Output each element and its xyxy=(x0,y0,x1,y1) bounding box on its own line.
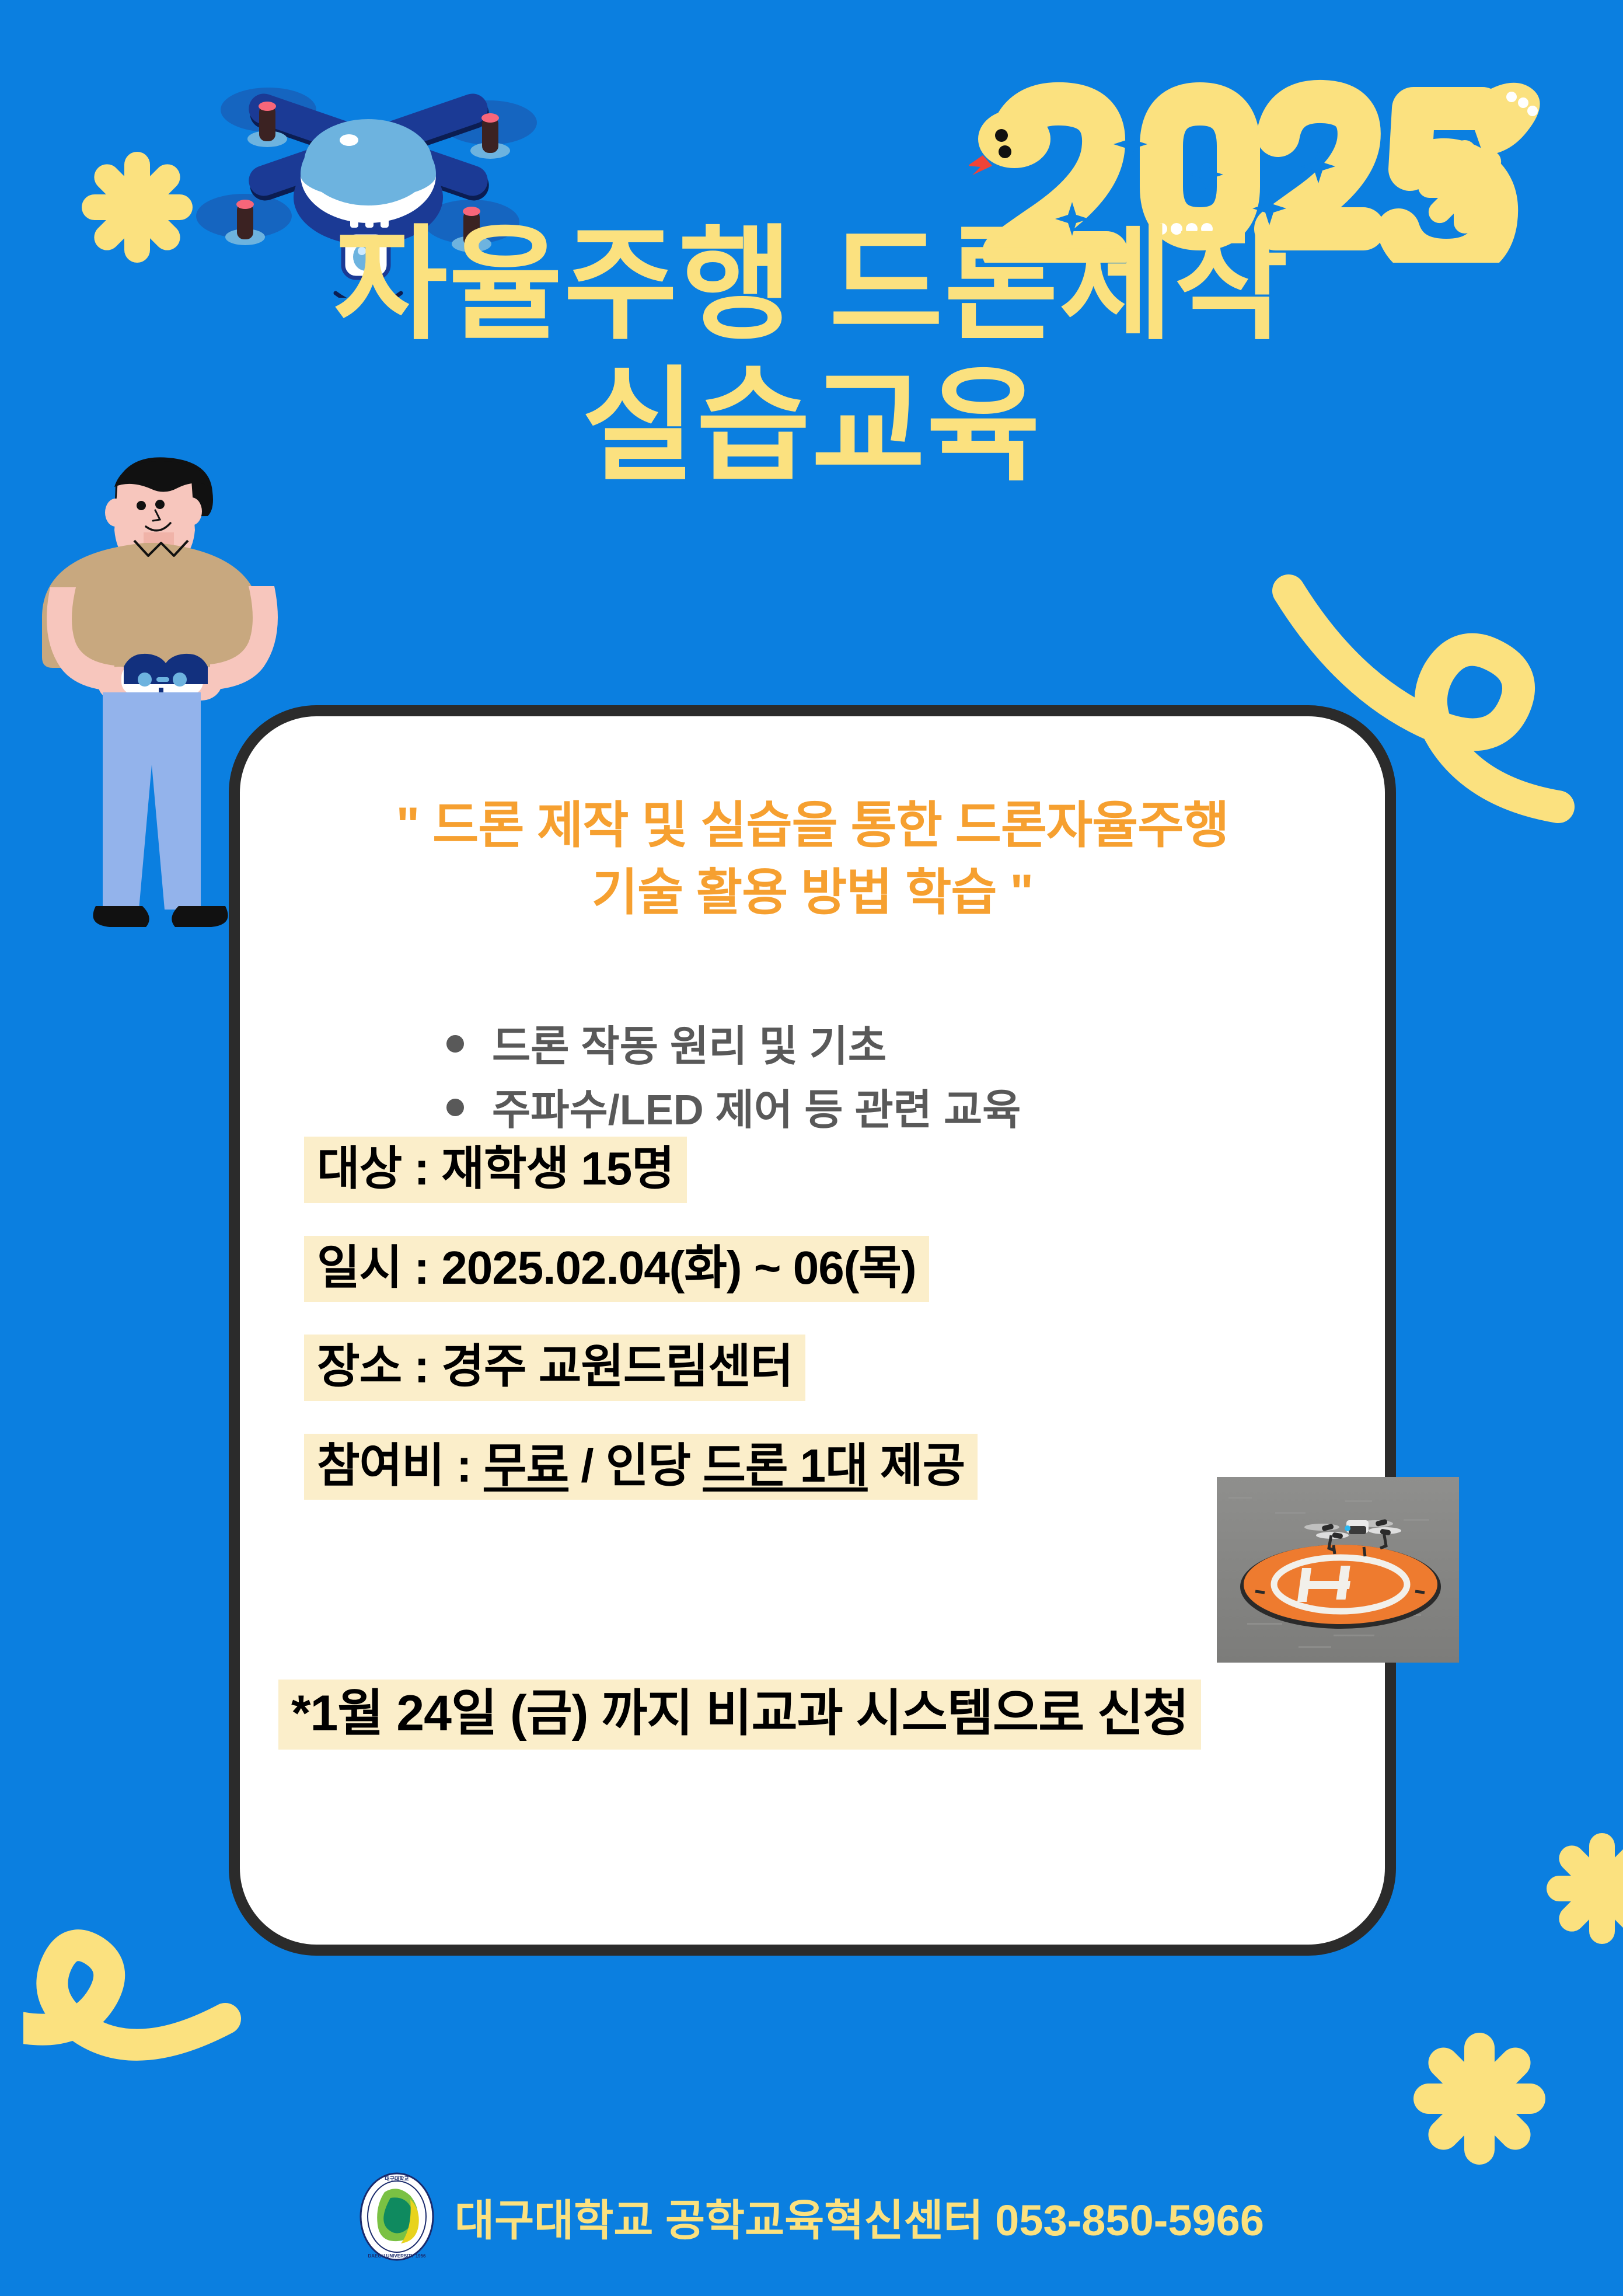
poster-root: 자율주행 드론제작 실습교육 xyxy=(0,0,1623,2296)
detail-text-fee: 참여비 : 무료 / 인당 드론 1대 제공 xyxy=(304,1434,978,1500)
sparkle-asterisk-icon xyxy=(76,146,198,269)
info-card: " 드론 제작 및 실습을 통한 드론자율주행 기술 활용 방법 학습 " 드론… xyxy=(229,705,1396,1956)
application-notice: *1월 24일 (금) 까지 비교과 시스템으로 신청 xyxy=(278,1680,1201,1750)
list-item: 드론 작동 원리 및 기초 xyxy=(438,1015,1021,1079)
fee-prefix: 참여비 : xyxy=(317,1440,484,1492)
detail-row-place: 장소 : 경주 교원드림센터 xyxy=(304,1335,1332,1401)
drone-helipad-photo xyxy=(1217,1477,1459,1663)
detail-row-target: 대상 : 재학생 15명 xyxy=(304,1137,1332,1203)
logo-top-text: 대구대학교 xyxy=(385,2175,409,2182)
footer: 대구대학교 DAEGU UNIVERSITY 1956 대구대학교 공학교육혁신… xyxy=(0,2172,1623,2261)
snake-2025-icon xyxy=(969,70,1552,263)
quote-line-1: " 드론 제작 및 실습을 통한 드론자율주행 xyxy=(240,792,1385,859)
footer-organization: 대구대학교 공학교육혁신센터 053-850-5966 xyxy=(455,2186,1264,2248)
list-item: 주파수/LED 제어 등 관련 교육 xyxy=(438,1079,1021,1142)
quadcopter-drone-icon xyxy=(175,29,560,298)
notice-text: *1월 24일 (금) 까지 비교과 시스템으로 신청 xyxy=(278,1680,1201,1750)
detail-text-target: 대상 : 재학생 15명 xyxy=(304,1137,687,1203)
details-list: 대상 : 재학생 15명 일시 : 2025.02.04(화) ~ 06(목) … xyxy=(304,1137,1332,1532)
quote-line-2: 기술 활용 방법 학습 " xyxy=(240,859,1385,926)
fee-suffix: 제공 xyxy=(868,1440,965,1492)
daegu-university-logo: 대구대학교 DAEGU UNIVERSITY 1956 xyxy=(359,2172,435,2261)
fee-free: 무료 xyxy=(484,1440,568,1492)
fee-middle: / 인당 xyxy=(568,1440,703,1492)
logo-bottom-text: DAEGU UNIVERSITY 1956 xyxy=(368,2253,427,2259)
quote-text: " 드론 제작 및 실습을 통한 드론자율주행 기술 활용 방법 학습 " xyxy=(240,792,1385,926)
curriculum-bullet-list: 드론 작동 원리 및 기초 주파수/LED 제어 등 관련 교육 xyxy=(415,1015,1021,1143)
detail-text-place: 장소 : 경주 교원드림센터 xyxy=(304,1335,805,1401)
fee-drone: 드론 1대 xyxy=(703,1440,868,1492)
sparkle-asterisk-icon xyxy=(1406,2026,1552,2172)
detail-text-date: 일시 : 2025.02.04(화) ~ 06(목) xyxy=(304,1236,929,1302)
sparkle-asterisk-icon xyxy=(1541,1827,1623,1950)
detail-row-date: 일시 : 2025.02.04(화) ~ 06(목) xyxy=(304,1236,1332,1302)
detail-row-fee: 참여비 : 무료 / 인당 드론 1대 제공 xyxy=(304,1434,1332,1500)
